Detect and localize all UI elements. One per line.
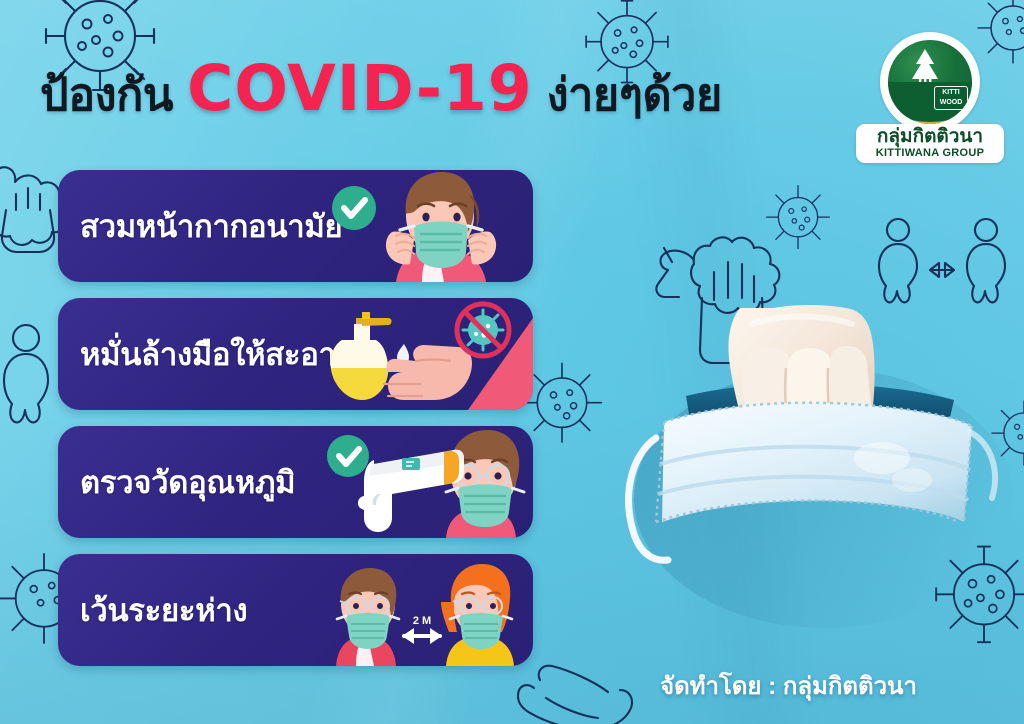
no-virus-icon: [457, 304, 509, 356]
tip-card-label: เว้นระยะห่าง: [80, 585, 247, 635]
headline-covid-highlight: COVID-19: [187, 52, 533, 125]
tip-card-label: หมั่นล้างมือให้สะอาด: [80, 329, 355, 379]
tip-card-check-temperature[interactable]: ตรวจวัดอุณหภูมิ: [58, 426, 533, 538]
tip-card-social-distancing[interactable]: เว้นระยะห่าง: [58, 554, 533, 666]
logo-brand-mark: KITTI WOOD: [934, 86, 968, 110]
tip-card-label: สวมหน้ากากอนามัย: [80, 201, 342, 251]
logo-brand-line-2: WOOD: [935, 98, 967, 108]
logo-name-english: KITTIWANA GROUP: [862, 147, 998, 159]
green-check-icon: [327, 435, 369, 477]
logo-name-thai: กลุ่มกิตติวนา: [862, 127, 998, 147]
green-check-icon: [332, 186, 376, 230]
logo-green-disc: KITTI WOOD: [888, 40, 972, 124]
distance-label: 2 M: [413, 615, 431, 627]
tip-card-label: ตรวจวัดอุณหภูมิ: [80, 457, 295, 507]
tip-card-illustration: [318, 298, 533, 410]
headline-prefix: ป้องกัน: [40, 58, 173, 130]
tip-card-illustration: [318, 170, 533, 282]
tip-card-wear-mask[interactable]: สวมหน้ากากอนามัย: [58, 170, 533, 282]
headline-suffix: ง่ายๆด้วย: [547, 58, 722, 130]
distance-arrow-icon: [402, 628, 442, 644]
tip-card-wash-hands[interactable]: หมั่นล้างมือให้สะอาด: [58, 298, 533, 410]
logo-badge: KITTI WOOD: [880, 32, 980, 132]
kittiwana-group-logo: KITTI WOOD กลุ่มกิตติวนา KITTIWANA GROUP: [856, 32, 1004, 160]
logo-brand-line-1: KITTI: [935, 88, 967, 98]
tip-card-illustration: [318, 426, 533, 538]
tip-card-illustration: 2 M: [318, 554, 533, 666]
sanitizer-bottle-icon: [330, 312, 391, 400]
page-title: ป้องกัน COVID-19 ง่ายๆด้วย: [40, 52, 722, 130]
gloved-hand-holding-mask-photo: [612, 268, 1024, 668]
credit-line: จัดทำโดย : กลุ่มกิตติวนา: [660, 666, 917, 705]
covid19-prevention-poster: ป้องกัน COVID-19 ง่ายๆด้วย KITTI WOOD: [0, 0, 1024, 724]
logo-name-plate: กลุ่มกิตติวนา KITTIWANA GROUP: [856, 124, 1004, 163]
